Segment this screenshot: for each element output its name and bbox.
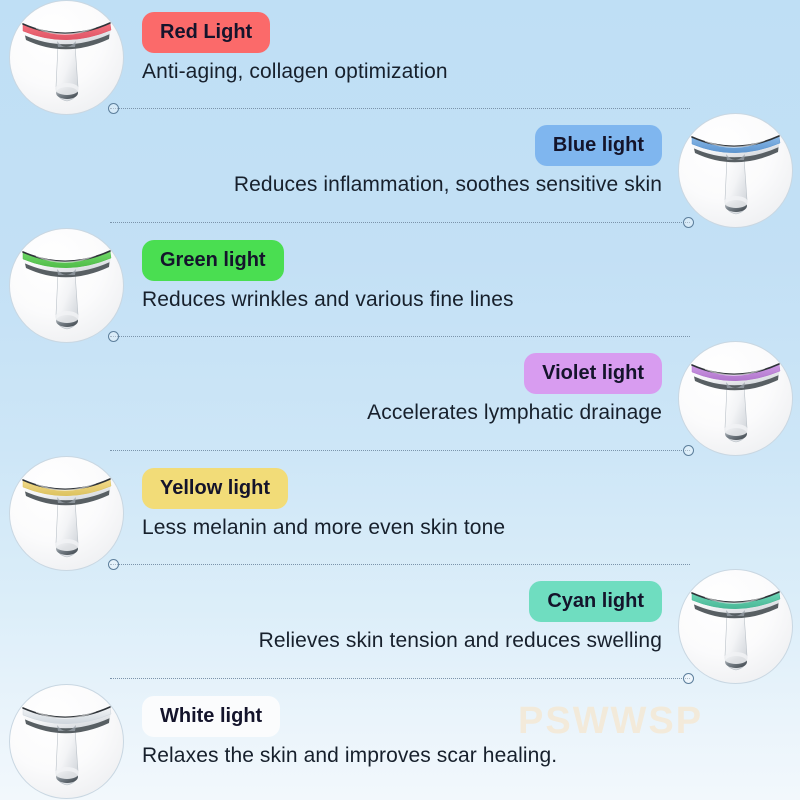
device-thumbnail-white	[9, 684, 124, 799]
light-mode-row-cyan: Cyan lightRelieves skin tension and redu…	[0, 569, 800, 684]
description-white: Relaxes the skin and improves scar heali…	[142, 744, 557, 768]
device-thumbnail-cyan	[678, 569, 793, 684]
light-mode-row-yellow: Yellow lightLess melanin and more even s…	[0, 456, 800, 571]
badge-blue[interactable]: Blue light	[535, 125, 662, 166]
connector-node-3	[108, 331, 119, 342]
connector-node-1	[108, 103, 119, 114]
badge-green[interactable]: Green light	[142, 240, 284, 281]
connector-line-5	[110, 564, 690, 566]
connector-node-6	[683, 673, 694, 684]
device-thumbnail-green	[9, 228, 124, 343]
device-thumbnail-blue	[678, 113, 793, 228]
badge-cyan[interactable]: Cyan light	[529, 581, 662, 622]
connector-line-3	[110, 336, 690, 338]
badge-yellow[interactable]: Yellow light	[142, 468, 288, 509]
connector-line-2	[110, 222, 690, 224]
light-mode-row-blue: Blue lightReduces inflammation, soothes …	[0, 113, 800, 228]
device-thumbnail-yellow	[9, 456, 124, 571]
light-mode-row-green: Green lightReduces wrinkles and various …	[0, 228, 800, 343]
badge-red[interactable]: Red Light	[142, 12, 270, 53]
description-green: Reduces wrinkles and various fine lines	[142, 288, 514, 312]
description-blue: Reduces inflammation, soothes sensitive …	[234, 173, 662, 197]
description-cyan: Relieves skin tension and reduces swelli…	[259, 629, 662, 653]
description-violet: Accelerates lymphatic drainage	[367, 401, 662, 425]
device-thumbnail-violet	[678, 341, 793, 456]
description-red: Anti-aging, collagen optimization	[142, 60, 448, 84]
connector-line-4	[110, 450, 690, 452]
infographic-canvas: Red LightAnti-aging, collagen optimizati…	[0, 0, 800, 800]
connector-node-2	[683, 217, 694, 228]
connector-node-5	[108, 559, 119, 570]
device-thumbnail-red	[9, 0, 124, 115]
badge-white[interactable]: White light	[142, 696, 280, 737]
description-yellow: Less melanin and more even skin tone	[142, 516, 505, 540]
light-mode-row-violet: Violet lightAccelerates lymphatic draina…	[0, 341, 800, 456]
connector-node-4	[683, 445, 694, 456]
connector-line-6	[110, 678, 690, 680]
light-mode-row-red: Red LightAnti-aging, collagen optimizati…	[0, 0, 800, 115]
light-mode-row-white: White lightRelaxes the skin and improves…	[0, 684, 800, 799]
badge-violet[interactable]: Violet light	[524, 353, 662, 394]
connector-line-1	[110, 108, 690, 110]
